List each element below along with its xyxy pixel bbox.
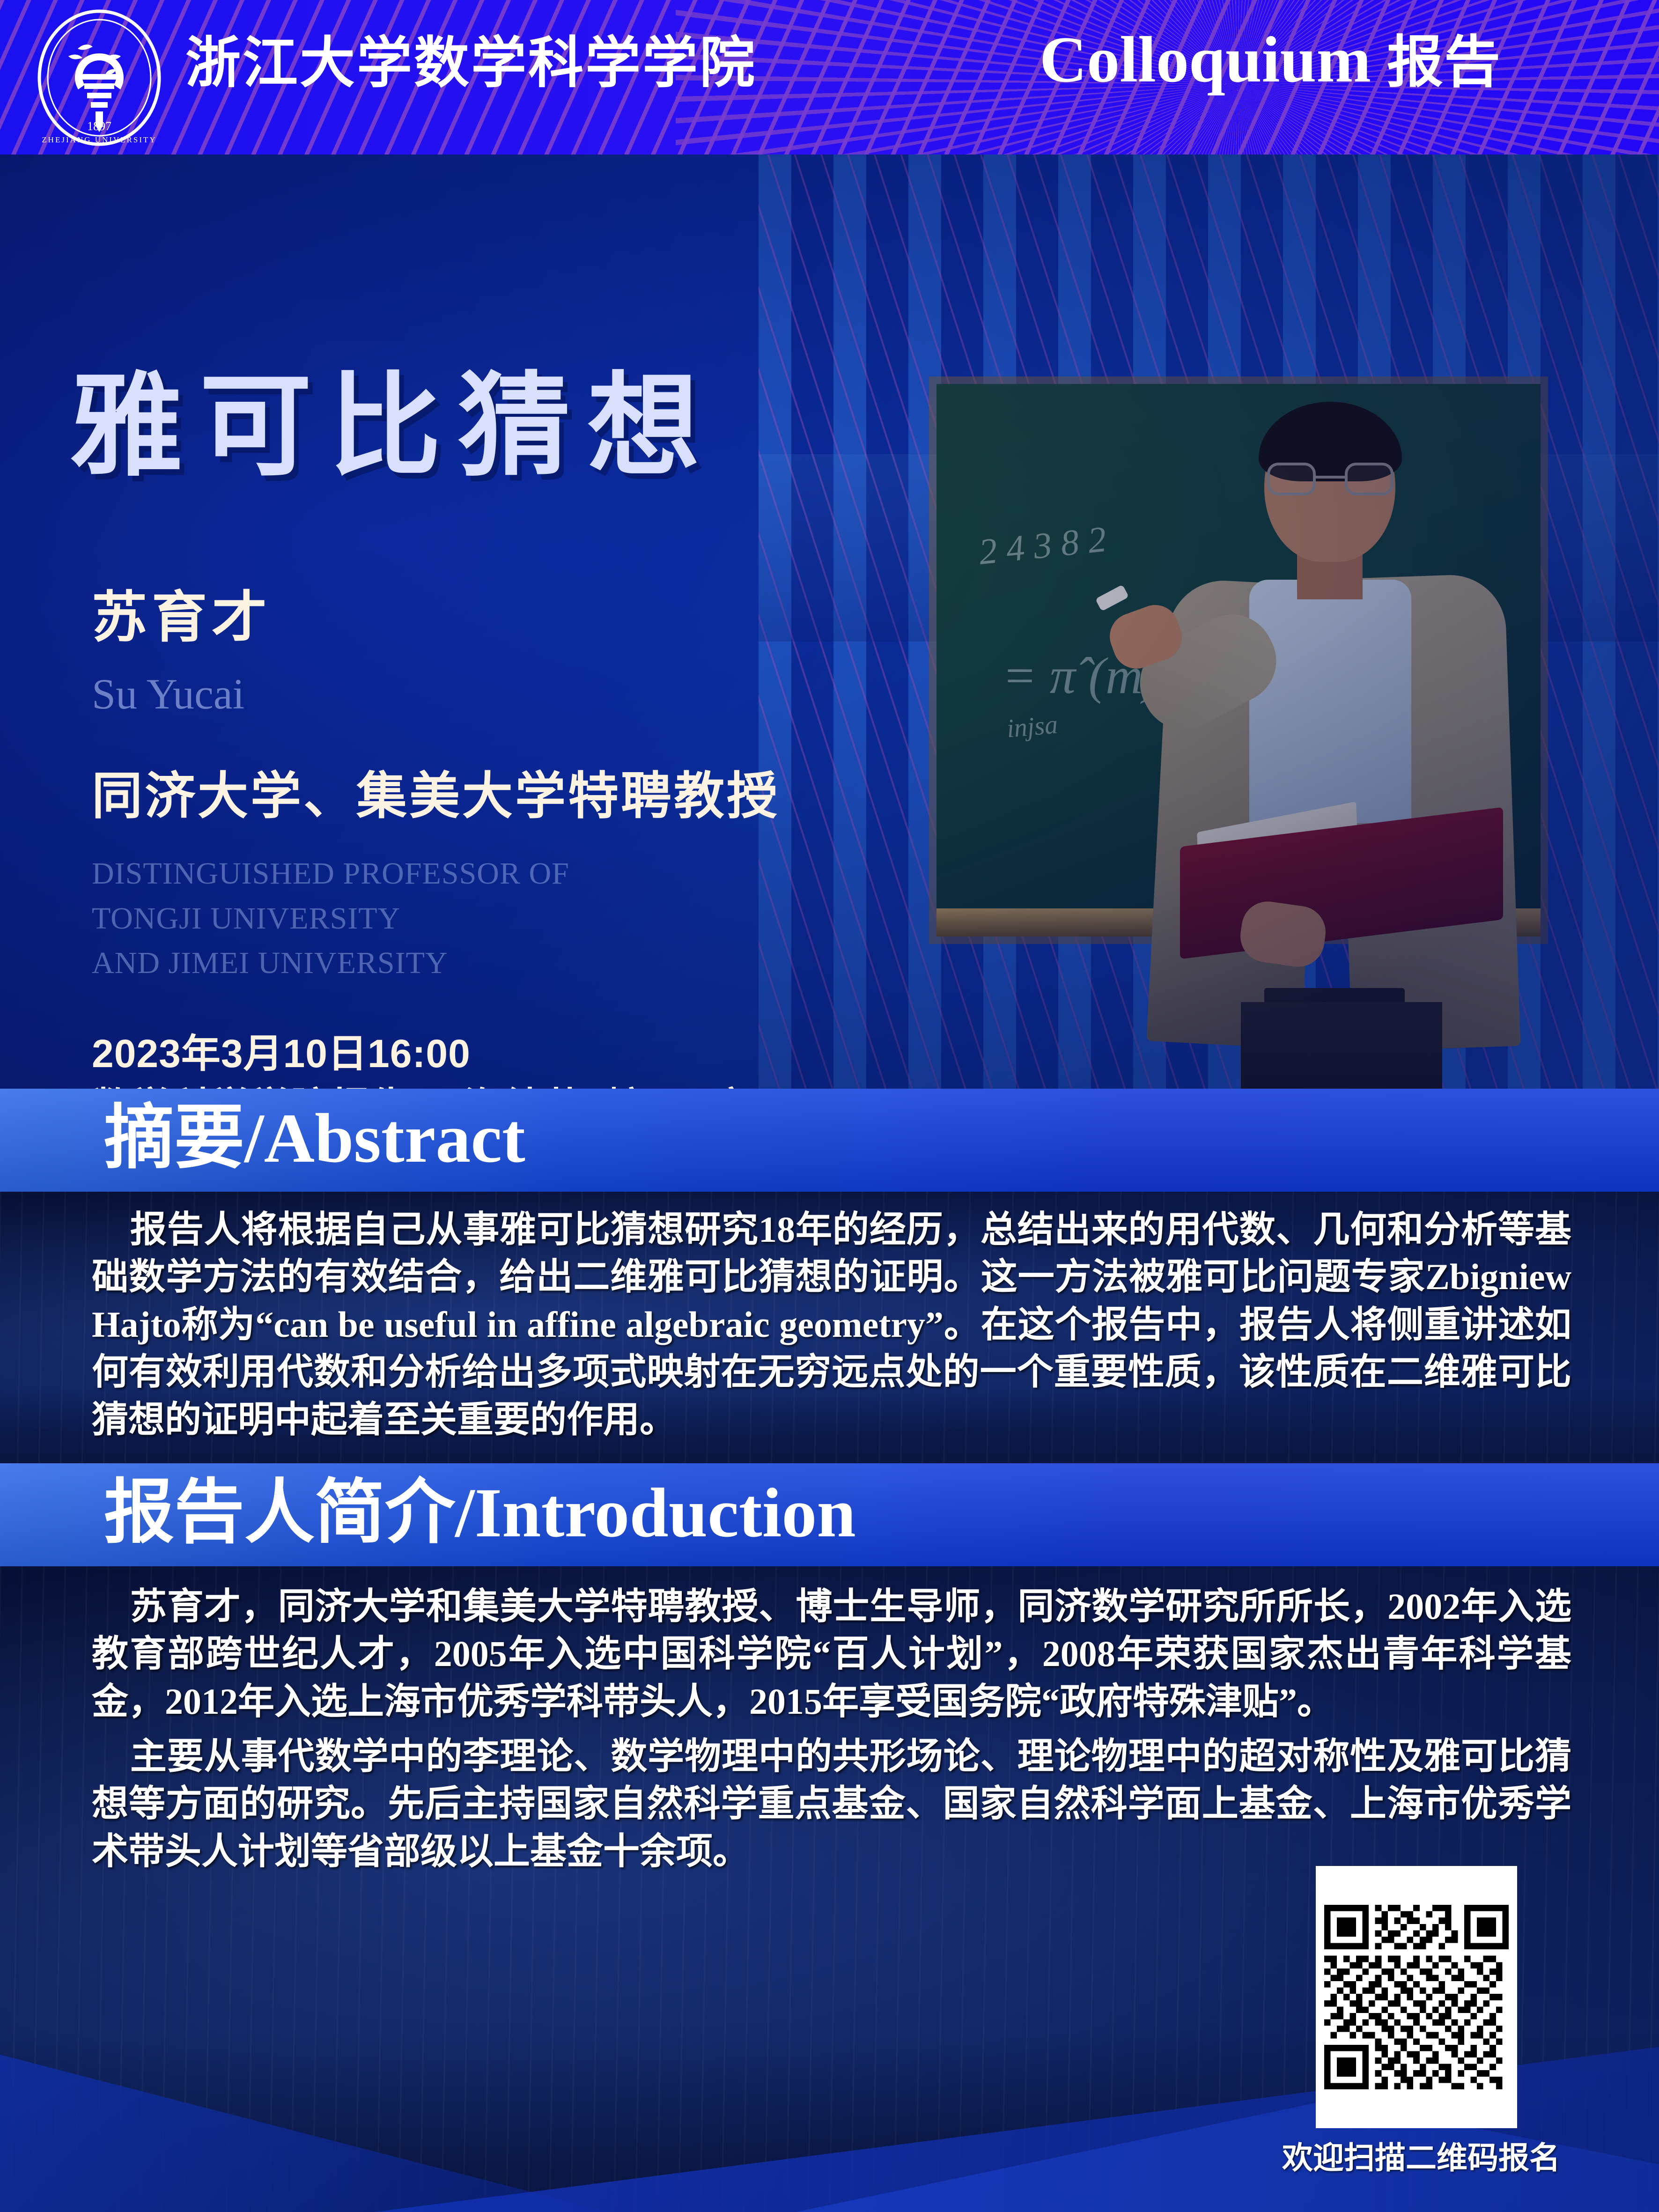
event-datetime: 2023年3月10日16:00 <box>92 1034 471 1073</box>
qr-caption: 欢迎扫描二维码报名 <box>1282 2142 1560 2173</box>
speaker-name-en: Su Yucai <box>92 672 244 715</box>
organization-name: 浙江大学数学科学学院 <box>185 36 757 91</box>
section-heading-introduction: 报告人简介/Introduction <box>104 1471 856 1555</box>
poster-title: 雅可比猜想 <box>70 370 716 482</box>
section-heading-abstract: 摘要/Abstract <box>104 1096 525 1180</box>
abstract-paragraph: 报告人将根据自己从事雅可比猜想研究18年的经历，总结出来的用代数、几何和分析等基… <box>92 1206 1571 1443</box>
top-banner: 1897 ZHEJIANG UNIVERSITY 浙江大学数学科学学院 Coll… <box>0 0 1659 155</box>
hero-section: 2 4 3 8 2 = π̂ (m) injsa cosθ sinθ F(x) … <box>0 155 1659 1110</box>
qr-code-block[interactable] <box>1316 1866 1517 2128</box>
introduction-paragraph-1: 苏育才，同济大学和集美大学特聘教授、博士生导师，同济数学研究所所长，2002年入… <box>92 1583 1571 1725</box>
introduction-paragraph-2: 主要从事代数学中的李理论、数学物理中的共形场论、理论物理中的超对称性及雅可比猜想… <box>92 1733 1571 1875</box>
series-title-en: Colloquium <box>1040 23 1371 96</box>
series-title: Colloquium报告 <box>1040 27 1501 93</box>
speaker-affiliation-en: DISTINGUISHED PROFESSOR OF TONGJI UNIVER… <box>92 851 569 986</box>
section-header-introduction: 报告人简介/Introduction <box>0 1463 1659 1566</box>
svg-text:ZHEJIANG UNIVERSITY: ZHEJIANG UNIVERSITY <box>42 135 156 144</box>
zhejiang-university-seal-icon: 1897 ZHEJIANG UNIVERSITY <box>29 7 170 148</box>
speaker-name-cn: 苏育才 <box>92 590 272 645</box>
series-title-cn: 报告 <box>1387 31 1501 94</box>
section-header-abstract: 摘要/Abstract <box>0 1089 1659 1192</box>
svg-text:1897: 1897 <box>87 119 111 133</box>
qr-code-icon[interactable] <box>1316 1866 1517 2128</box>
speaker-affiliation-cn: 同济大学、集美大学特聘教授 <box>92 771 780 821</box>
poster-root: 1897 ZHEJIANG UNIVERSITY 浙江大学数学科学学院 Coll… <box>0 0 1659 2212</box>
